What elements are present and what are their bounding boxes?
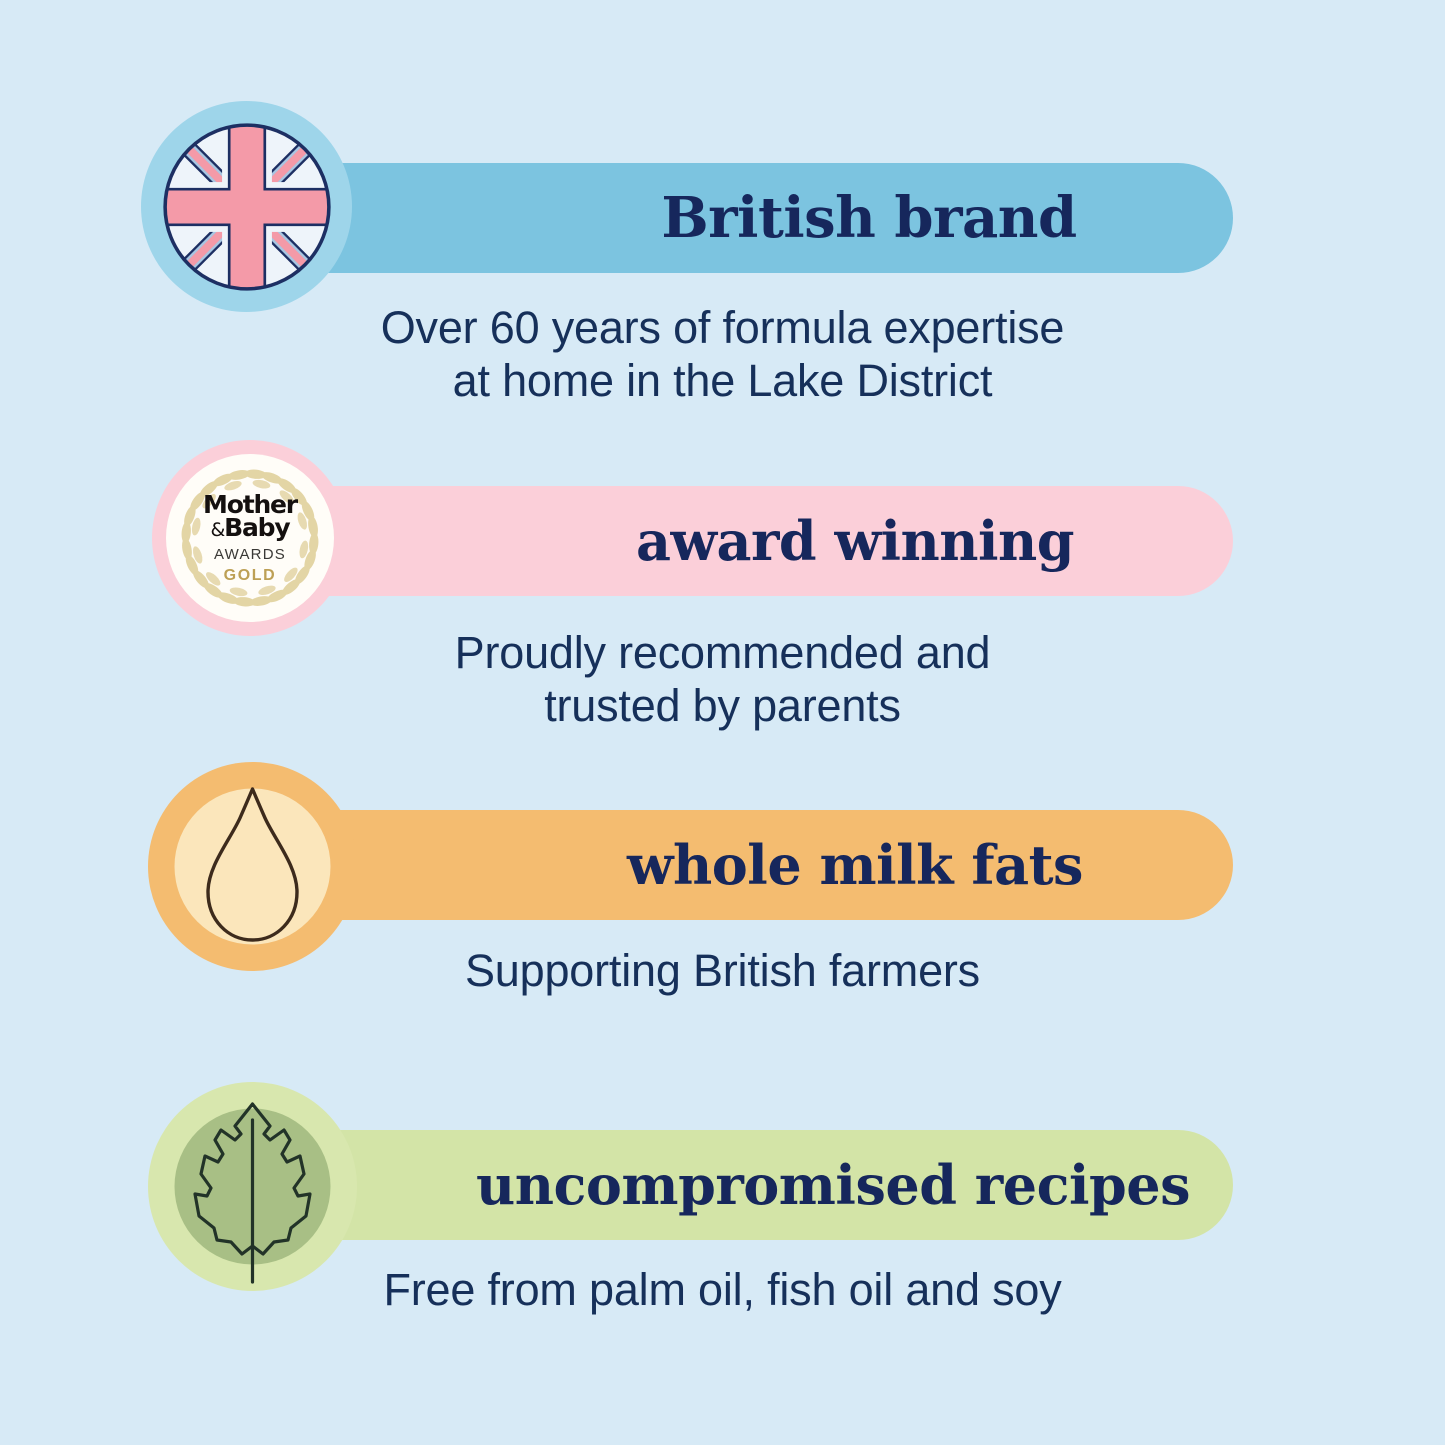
heading-british-brand: British brand [411,185,1076,251]
caption-line: Over 60 years of formula expertise [0,302,1445,355]
award-tier-label: GOLD [203,568,297,584]
award-badge-text: Mother &Baby AWARDS GOLD [203,492,297,584]
milk-droplet-icon [148,762,357,971]
award-brand-baby: Baby [224,513,289,542]
heading-uncompromised-recipes: uncompromised recipes [298,1153,1190,1217]
mother-and-baby-awards-gold-badge-icon: Mother &Baby AWARDS GOLD [166,454,334,622]
brand-benefits-infographic: British brand [0,0,1445,1445]
pill-british-brand: British brand [255,163,1233,273]
caption-award-winning: Proudly recommended and trusted by paren… [0,627,1445,732]
heading-whole-milk-fats: whole milk fats [405,833,1083,897]
badge-whole-milk-fats [148,762,357,971]
caption-line: Proudly recommended and [0,627,1445,680]
caption-line: at home in the Lake District [0,355,1445,408]
union-jack-flag-icon [158,118,336,296]
heading-award-winning: award winning [414,509,1074,573]
award-brand-line-2: &Baby [203,515,297,540]
leaf-icon [148,1082,357,1291]
pill-whole-milk-fats: whole milk fats [255,810,1233,920]
pill-uncompromised-recipes: uncompromised recipes [255,1130,1233,1240]
award-awards-label: AWARDS [203,547,297,562]
award-ampersand: & [211,519,225,541]
caption-british-brand: Over 60 years of formula expertise at ho… [0,302,1445,407]
badge-british-brand [141,101,352,312]
badge-uncompromised-recipes [148,1082,357,1291]
caption-line: trusted by parents [0,680,1445,733]
pill-award-winning: award winning [255,486,1233,596]
badge-award-winning: Mother &Baby AWARDS GOLD [152,440,348,636]
